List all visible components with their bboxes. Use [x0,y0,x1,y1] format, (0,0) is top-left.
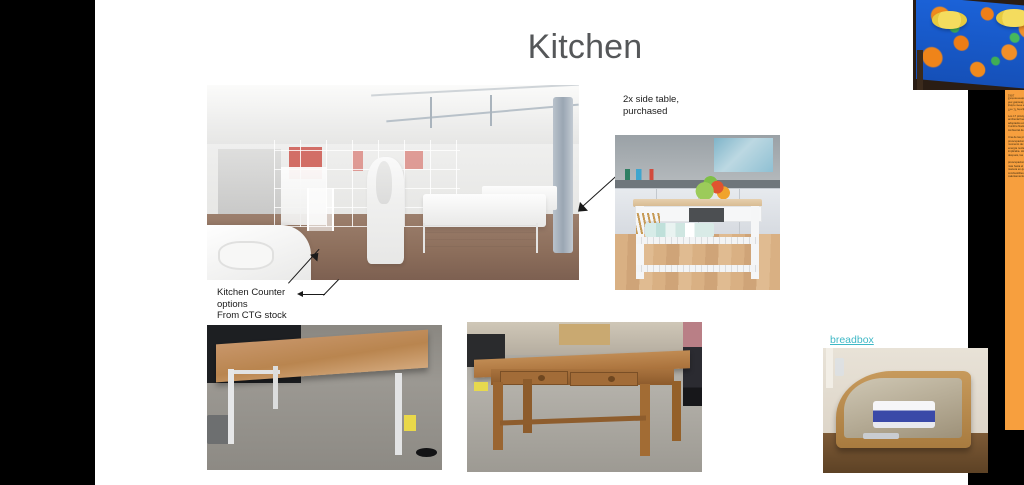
background-object [207,415,231,444]
render-counter [423,194,546,227]
rustic-wood-console-table-photo [467,322,702,472]
table-leg [672,381,681,441]
note-side-table-line2: purchased [623,106,733,118]
inventory-tag [474,382,488,391]
render-left-panel [218,149,281,213]
table-leg [273,366,279,410]
render-counter-base [423,223,539,252]
page-title: Kitchen [425,28,745,67]
slide-canvas: Kitchen [95,0,968,485]
wall-trim [826,348,833,388]
bread-package [873,401,936,429]
drawer-knob [538,375,545,381]
render-beam [490,95,492,126]
cardboard-box [559,324,611,345]
table-drawer [570,372,638,386]
tablecloth-photo [913,0,1024,90]
table-leg [917,50,923,91]
kitchen-3d-render [207,85,579,280]
note-counter-line3: From CTG stock [217,310,337,322]
table-leg [228,369,234,444]
breadbox-link[interactable]: breadbox [830,334,874,346]
render-figure-hair [376,161,392,204]
panel-paragraph-es-3: preocupaciones ambientales apuntan más h… [1008,161,1024,179]
side-table-open-compartment [689,208,724,222]
side-table-photo [615,135,780,290]
yellow-plate [932,11,968,29]
note-side-table-line1: 2x side table, [623,94,733,106]
wood-top-white-leg-table-photo [207,325,442,470]
yellow-plate [996,9,1024,27]
side-table-vegetable-bowl [693,175,733,201]
background-bottle [835,358,845,376]
note-kitchen-counter: Kitchen Counter options From CTG stock [217,287,337,322]
table-leg [493,382,504,450]
render-beam [430,97,432,128]
side-table-bottom-shelf [636,265,758,272]
panel-paragraph-es-1: Los 17 principios de la justicia ambient… [1008,115,1024,133]
render-column [553,97,573,253]
note-side-table: 2x side table, purchased [623,94,733,117]
note-counter-line2: options [217,299,337,311]
side-table-dishware [645,223,714,237]
breadbox-photo [823,348,988,473]
render-sink-bowl [218,241,274,270]
inventory-tag [404,415,416,431]
side-table-wall-art [714,138,773,172]
panel-paragraph-es-2: Una de las principales preocupaciones am… [1008,136,1024,157]
table-leg [523,379,531,433]
arrowhead-counter-horizontal [297,291,303,297]
breadbox-handle [863,433,899,439]
table-leg [395,373,402,456]
panel-paragraph-en: The 17 principles of environmental justi… [1008,93,1024,111]
slide-stage: Kitchen [0,0,1024,485]
environmental-justice-text-panel: The 17 principles of environmental justi… [1005,90,1024,430]
drawer-knob [608,376,615,382]
floor-object [416,448,437,457]
side-table-middle-shelf [636,237,758,244]
note-counter-line1: Kitchen Counter [217,287,337,299]
table-drawer [500,371,568,385]
render-stool [307,188,333,231]
